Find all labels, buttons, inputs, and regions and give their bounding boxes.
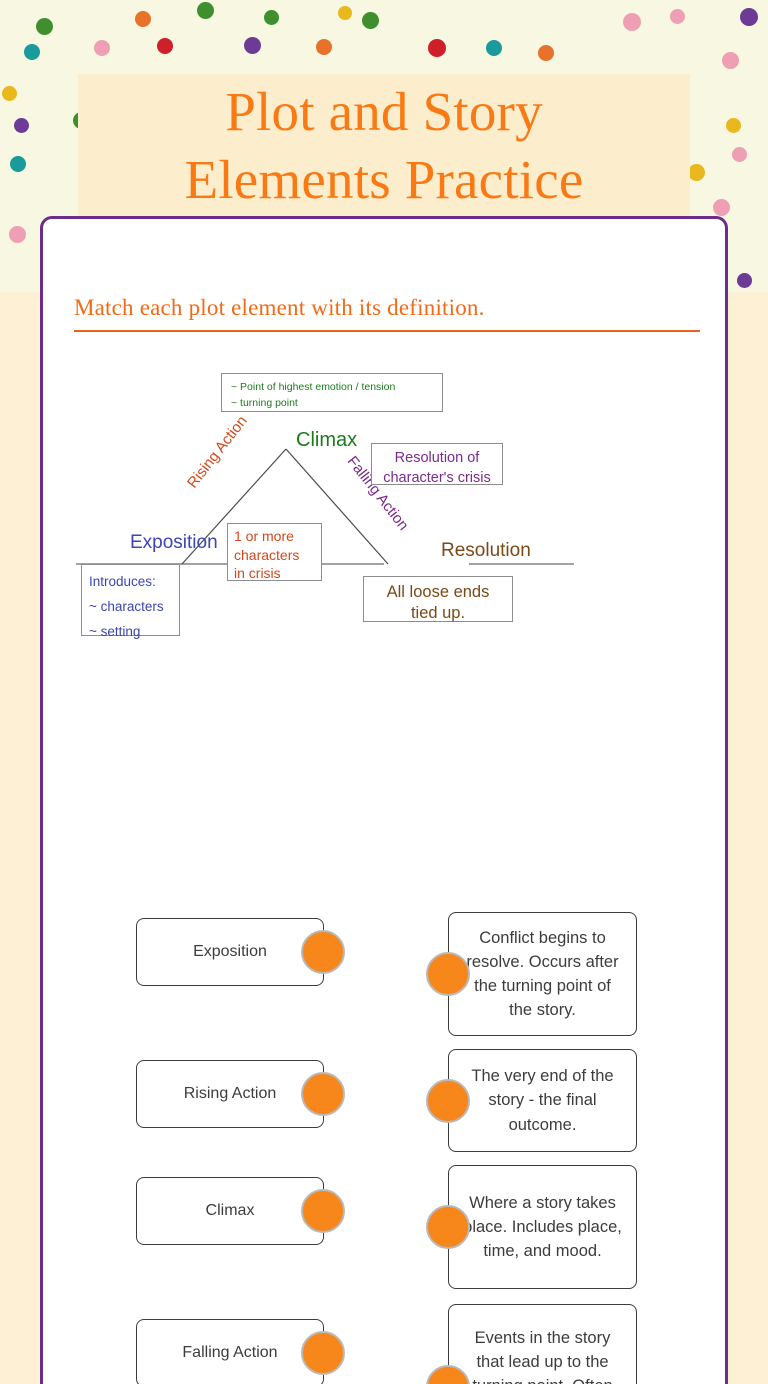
confetti-dot (10, 156, 26, 172)
confetti-dot (9, 226, 26, 243)
term-connector-dot[interactable] (301, 1331, 345, 1375)
confetti-dot (316, 39, 332, 55)
confetti-dot (24, 44, 40, 60)
page-title-line-2: Elements Practice (185, 146, 584, 213)
confetti-dot (135, 11, 151, 27)
definition-card[interactable]: The very end of the story - the final ou… (448, 1049, 637, 1152)
confetti-dot (732, 147, 747, 162)
confetti-dot (737, 273, 752, 288)
definition-card-text: Where a story takes place. Includes plac… (461, 1191, 624, 1264)
diagram-introduces-box: Introduces: ~ characters ~ setting (81, 564, 180, 636)
confetti-dot (722, 52, 739, 69)
definition-card-text: The very end of the story - the final ou… (461, 1064, 624, 1137)
confetti-dot (740, 8, 758, 26)
worksheet-card: Match each plot element with its definit… (40, 216, 728, 1384)
instruction-text: Match each plot element with its definit… (74, 295, 700, 321)
diagram-climax-label: Climax (296, 429, 357, 452)
confetti-dot (670, 9, 685, 24)
term-card[interactable]: Rising Action (136, 1060, 324, 1128)
confetti-dot (713, 199, 730, 216)
confetti-dot (428, 39, 446, 57)
instruction-block: Match each plot element with its definit… (74, 295, 700, 332)
title-banner: Plot and Story Elements Practice (78, 74, 690, 217)
diagram-crisis-resolution-line-1: Resolution of (376, 448, 498, 468)
term-card[interactable]: Falling Action (136, 1319, 324, 1384)
diagram-loose-ends-line-2: tied up. (368, 603, 508, 624)
confetti-dot (362, 12, 379, 29)
definition-card-text: Conflict begins to resolve. Occurs after… (461, 926, 624, 1023)
confetti-dot (486, 40, 502, 56)
definition-card[interactable]: Events in the story that lead up to the … (448, 1304, 637, 1384)
term-card-label: Exposition (193, 943, 267, 961)
confetti-dot (157, 38, 173, 54)
confetti-dot (726, 118, 741, 133)
term-card-label: Falling Action (182, 1344, 277, 1362)
diagram-loose-ends-box: All loose ends tied up. (363, 576, 513, 622)
confetti-dot (623, 13, 641, 31)
diagram-crisis-box: 1 or more characters in crisis (227, 523, 322, 581)
confetti-dot (14, 118, 29, 133)
page-title-line-1: Plot and Story (185, 78, 584, 145)
page-title: Plot and Story Elements Practice (185, 78, 584, 212)
diagram-introduces-line-1: Introduces: (89, 570, 179, 595)
definition-card[interactable]: Where a story takes place. Includes plac… (448, 1165, 637, 1289)
term-card[interactable]: Exposition (136, 918, 324, 986)
diagram-loose-ends-line-1: All loose ends (368, 582, 508, 603)
diagram-introduces-line-2: ~ characters (89, 595, 179, 620)
confetti-dot (264, 10, 279, 25)
diagram-exposition-label: Exposition (130, 532, 218, 554)
diagram-climax-note-line-1: ~ Point of highest emotion / tension (231, 379, 434, 395)
diagram-introduces-line-3: ~ setting (89, 620, 179, 645)
confetti-dot (36, 18, 53, 35)
confetti-dot (244, 37, 261, 54)
term-card[interactable]: Climax (136, 1177, 324, 1245)
confetti-dot (94, 40, 110, 56)
instruction-divider (74, 330, 700, 332)
confetti-dot (688, 164, 705, 181)
diagram-crisis-resolution-box: Resolution of character's crisis (371, 443, 503, 485)
confetti-dot (197, 2, 214, 19)
definition-card-text: Events in the story that lead up to the … (461, 1326, 624, 1384)
definition-connector-dot[interactable] (426, 1079, 470, 1123)
confetti-dot (538, 45, 554, 61)
term-connector-dot[interactable] (301, 1189, 345, 1233)
term-card-label: Climax (206, 1202, 255, 1220)
term-card-label: Rising Action (184, 1085, 277, 1103)
diagram-climax-note-line-2: ~ turning point (231, 395, 434, 411)
confetti-dot (2, 86, 17, 101)
term-connector-dot[interactable] (301, 930, 345, 974)
term-connector-dot[interactable] (301, 1072, 345, 1116)
definition-card[interactable]: Conflict begins to resolve. Occurs after… (448, 912, 637, 1036)
diagram-crisis-line-3: in crisis (234, 564, 321, 583)
diagram-climax-note-box: ~ Point of highest emotion / tension ~ t… (221, 373, 443, 412)
definition-connector-dot[interactable] (426, 1205, 470, 1249)
plot-structure-diagram: ~ Point of highest emotion / tension ~ t… (74, 371, 574, 661)
diagram-crisis-line-2: characters (234, 546, 321, 565)
definition-connector-dot[interactable] (426, 952, 470, 996)
confetti-dot (338, 6, 352, 20)
diagram-crisis-line-1: 1 or more (234, 527, 321, 546)
diagram-crisis-resolution-line-2: character's crisis (376, 468, 498, 488)
diagram-resolution-label: Resolution (441, 540, 531, 562)
